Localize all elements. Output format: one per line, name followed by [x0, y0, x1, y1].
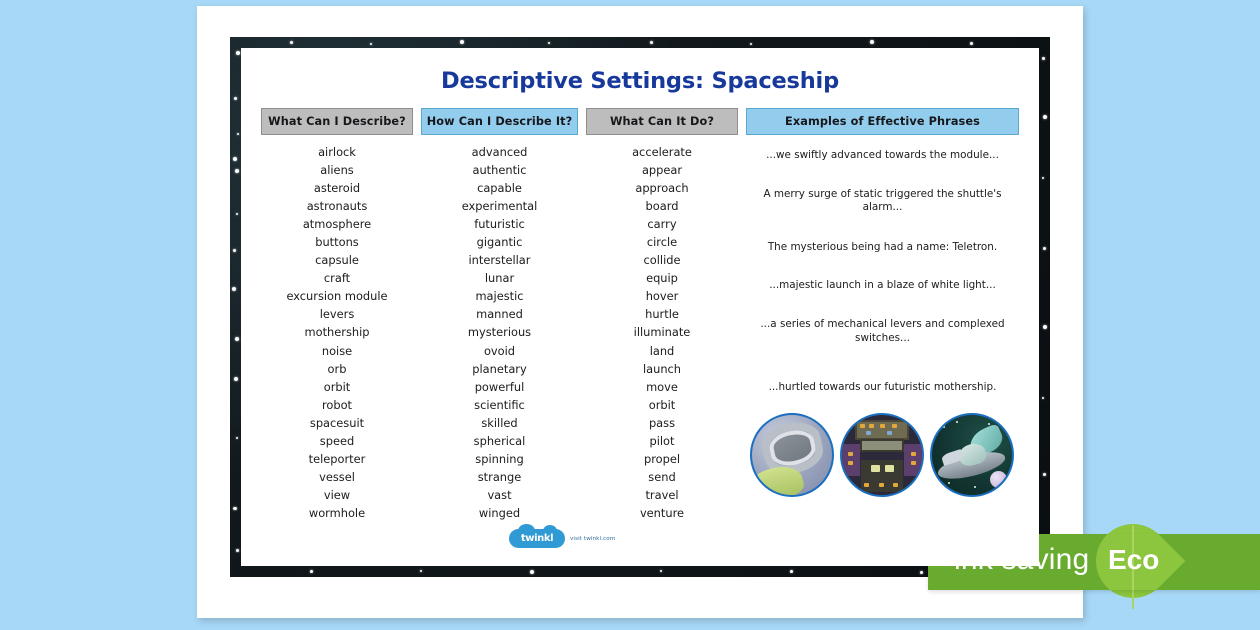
page-title: Descriptive Settings: Spaceship: [241, 48, 1039, 94]
column-body-row: airlock aliens asteroid astronauts atmos…: [241, 135, 1039, 522]
list-item: approach: [586, 179, 738, 197]
poster-content-area: Descriptive Settings: Spaceship What Can…: [241, 48, 1039, 566]
phrase-example: ...we swiftly advanced towards the modul…: [746, 149, 1019, 163]
airlock-hatch-photo: [750, 413, 834, 497]
list-item: majestic: [421, 287, 578, 305]
list-item: propel: [586, 450, 738, 468]
poster-page: Descriptive Settings: Spaceship What Can…: [197, 6, 1083, 618]
list-item: send: [586, 468, 738, 486]
phrase-example: ...a series of mechanical levers and com…: [746, 318, 1019, 345]
phrase-examples-column: ...we swiftly advanced towards the modul…: [746, 135, 1019, 522]
list-item: mysterious: [421, 323, 578, 341]
column-header-row: What Can I Describe? How Can I Describe …: [241, 94, 1039, 135]
list-item: ovoid: [421, 342, 578, 360]
list-item: pilot: [586, 432, 738, 450]
list-item: planetary: [421, 360, 578, 378]
list-item: pass: [586, 414, 738, 432]
list-item: noise: [261, 342, 413, 360]
list-item: collide: [586, 251, 738, 269]
list-item: vessel: [261, 468, 413, 486]
list-item: futuristic: [421, 215, 578, 233]
list-item: land: [586, 342, 738, 360]
list-item: speed: [261, 432, 413, 450]
list-item: advanced: [421, 143, 578, 161]
list-item: authentic: [421, 161, 578, 179]
image-strip: [746, 413, 1019, 497]
list-item: travel: [586, 486, 738, 504]
list-item: capsule: [261, 251, 413, 269]
phrase-example: ...majestic launch in a blaze of white l…: [746, 279, 1019, 293]
list-item: excursion module: [261, 287, 413, 305]
list-item: vast: [421, 486, 578, 504]
list-item: mothership: [261, 323, 413, 341]
list-item: illuminate: [586, 323, 738, 341]
phrase-example: A merry surge of static triggered the sh…: [746, 188, 1019, 215]
list-item: gigantic: [421, 233, 578, 251]
twinkl-cloud-icon: twinkl: [509, 529, 565, 548]
list-item: spinning: [421, 450, 578, 468]
list-item: strange: [421, 468, 578, 486]
cockpit-controls-photo: [840, 413, 924, 497]
phrase-example: ...hurtled towards our futuristic mother…: [746, 381, 1019, 395]
list-item: craft: [261, 269, 413, 287]
word-list-adjectives: advanced authentic capable experimental …: [421, 135, 578, 522]
list-item: skilled: [421, 414, 578, 432]
list-item: accelerate: [586, 143, 738, 161]
list-item: levers: [261, 305, 413, 323]
twinkl-visit-text: visit twinkl.com: [570, 536, 615, 542]
list-item: orbit: [586, 396, 738, 414]
list-item: aliens: [261, 161, 413, 179]
list-item: astronauts: [261, 197, 413, 215]
word-list-nouns: airlock aliens asteroid astronauts atmos…: [261, 135, 413, 522]
list-item: lunar: [421, 269, 578, 287]
list-item: view: [261, 486, 413, 504]
list-item: appear: [586, 161, 738, 179]
list-item: robot: [261, 396, 413, 414]
spaceship-photo: [930, 413, 1014, 497]
list-item: launch: [586, 360, 738, 378]
list-item: buttons: [261, 233, 413, 251]
list-item: orb: [261, 360, 413, 378]
list-item: spherical: [421, 432, 578, 450]
list-item: scientific: [421, 396, 578, 414]
list-item: board: [586, 197, 738, 215]
list-item: teleporter: [261, 450, 413, 468]
list-item: move: [586, 378, 738, 396]
list-item: winged: [421, 504, 578, 522]
column-header-how-can-i-describe-it: How Can I Describe It?: [421, 108, 578, 135]
list-item: atmosphere: [261, 215, 413, 233]
column-header-examples-of-effective-phrases: Examples of Effective Phrases: [746, 108, 1019, 135]
list-item: manned: [421, 305, 578, 323]
list-item: circle: [586, 233, 738, 251]
list-item: experimental: [421, 197, 578, 215]
twinkl-logo-word: twinkl: [521, 533, 553, 544]
list-item: orbit: [261, 378, 413, 396]
list-item: capable: [421, 179, 578, 197]
phrase-example: The mysterious being had a name: Teletro…: [746, 241, 1019, 255]
list-item: airlock: [261, 143, 413, 161]
column-header-what-can-it-do: What Can It Do?: [586, 108, 738, 135]
list-item: hurtle: [586, 305, 738, 323]
list-item: spacesuit: [261, 414, 413, 432]
list-item: powerful: [421, 378, 578, 396]
list-item: equip: [586, 269, 738, 287]
eco-badge-eco-label: Eco: [1108, 544, 1159, 576]
word-list-verbs: accelerate appear approach board carry c…: [586, 135, 738, 522]
list-item: carry: [586, 215, 738, 233]
list-item: hover: [586, 287, 738, 305]
list-item: asteroid: [261, 179, 413, 197]
space-themed-border-frame: Descriptive Settings: Spaceship What Can…: [230, 37, 1050, 577]
list-item: wormhole: [261, 504, 413, 522]
column-header-what-can-i-describe: What Can I Describe?: [261, 108, 413, 135]
twinkl-logo[interactable]: twinkl visit twinkl.com: [509, 529, 615, 548]
list-item: interstellar: [421, 251, 578, 269]
list-item: venture: [586, 504, 738, 522]
